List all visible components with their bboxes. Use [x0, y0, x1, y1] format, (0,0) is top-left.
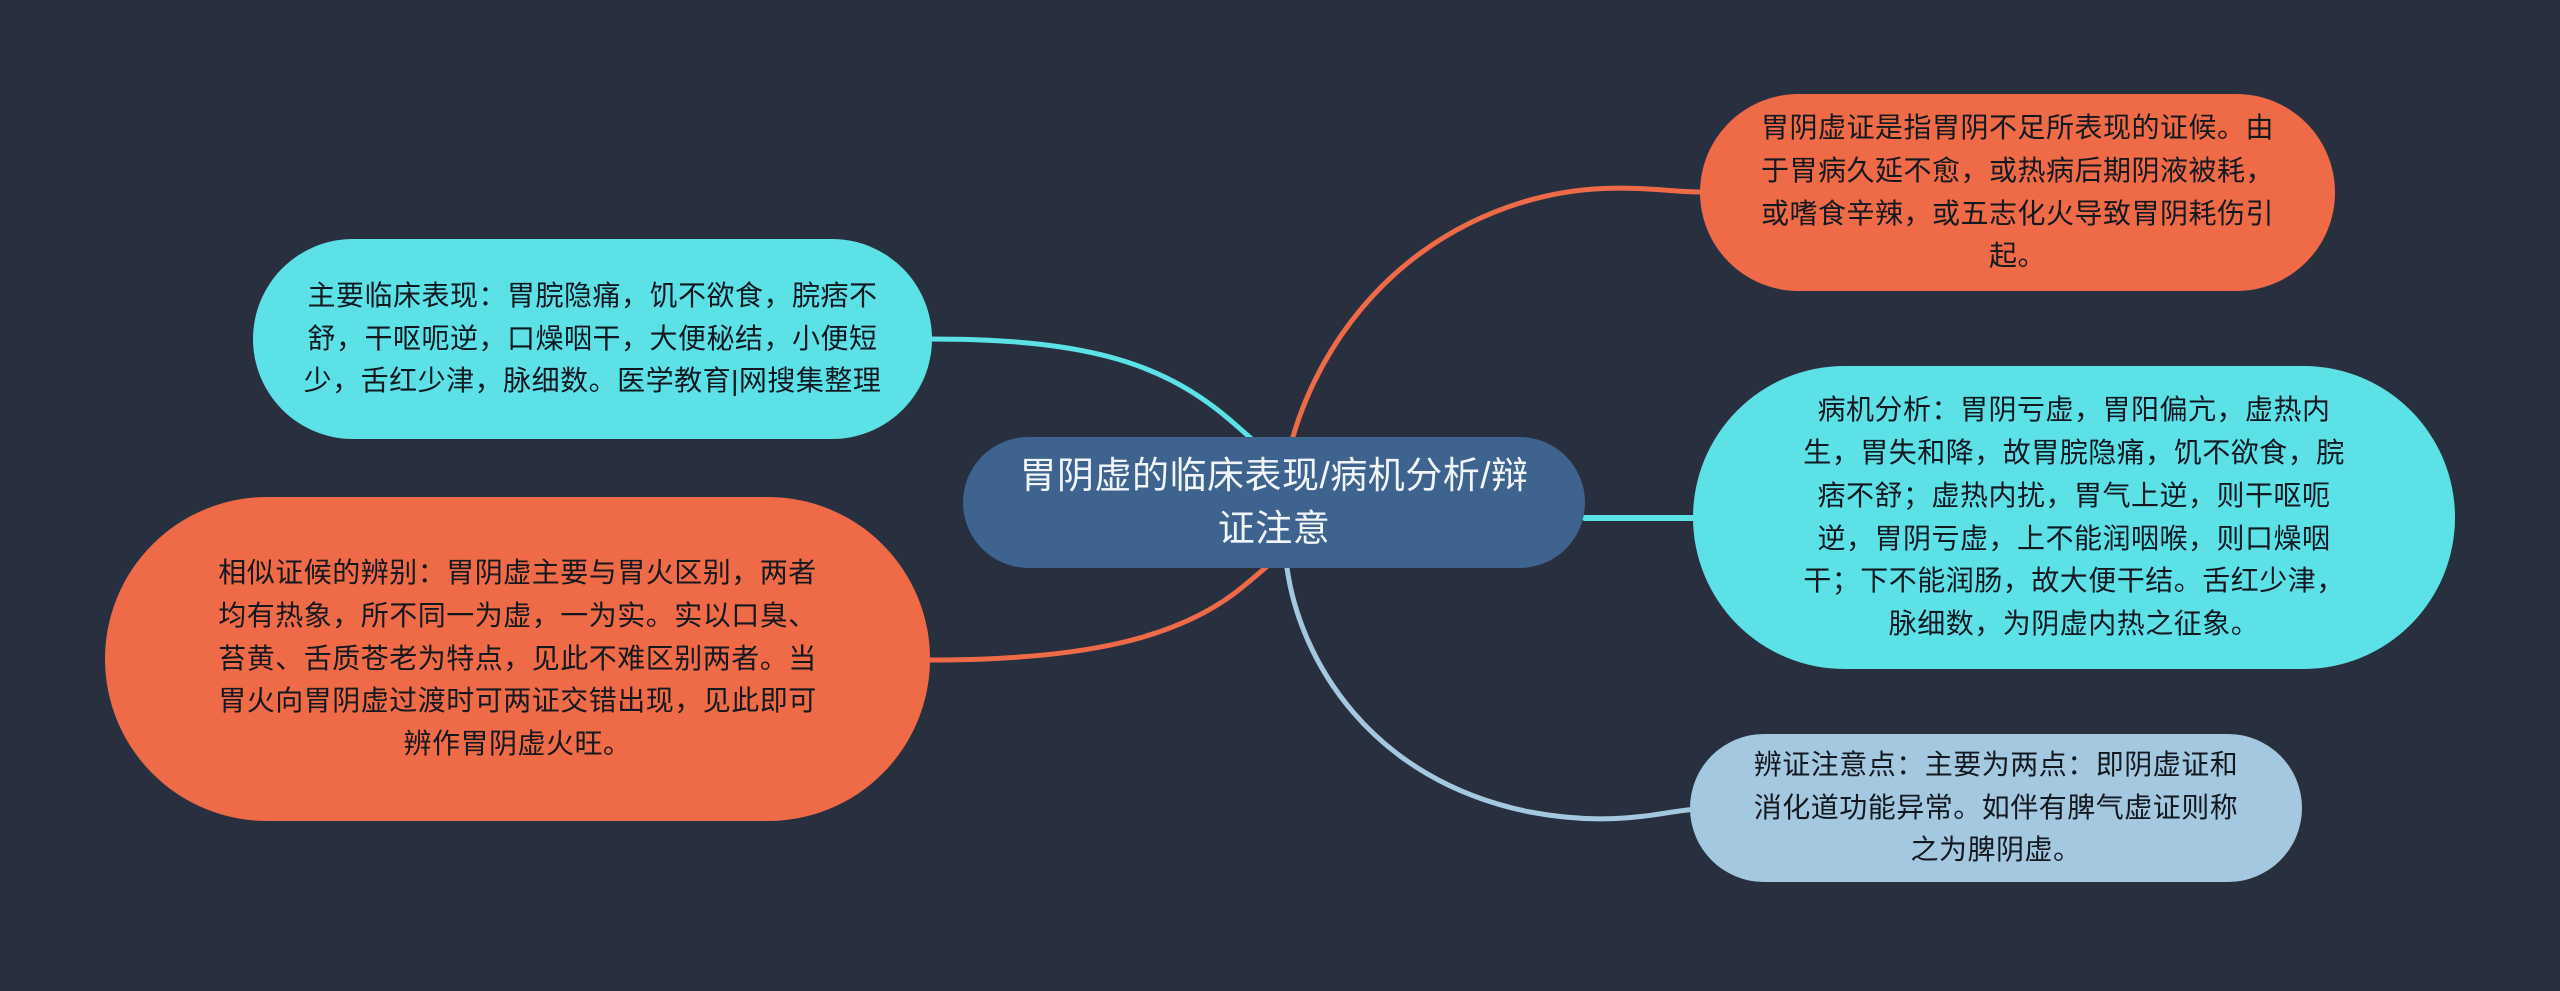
branch-node-differentiation-cautions[interactable]: 辨证注意点：主要为两点：即阴虚证和消化道功能异常。如伴有脾气虚证则称之为脾阴虚。: [1690, 734, 2302, 882]
branch-label-differentiation: 相似证候的辨别：胃阴虚主要与胃火区别，两者均有热象，所不同一为虚，一为实。实以口…: [215, 552, 820, 766]
branch-node-definition[interactable]: 胃阴虚证是指胃阴不足所表现的证候。由于胃病久延不愈，或热病后期阴液被耗，或嗜食辛…: [1700, 94, 2335, 291]
connector-cautions: [1287, 568, 1700, 819]
branch-label-definition: 胃阴虚证是指胃阴不足所表现的证候。由于胃病久延不愈，或热病后期阴液被耗，或嗜食辛…: [1760, 107, 2275, 277]
root-node[interactable]: 胃阴虚的临床表现/病机分析/辩证注意: [963, 437, 1585, 568]
branch-node-clinical-manifestations[interactable]: 主要临床表现：胃脘隐痛，饥不欲食，脘痞不舒，干呕呃逆，口燥咽干，大便秘结，小便短…: [253, 239, 932, 439]
root-node-label: 胃阴虚的临床表现/病机分析/辩证注意: [1009, 450, 1539, 555]
branch-label-pathogenesis: 病机分析：胃阴亏虚，胃阳偏亢，虚热内生，胃失和降，故胃脘隐痛，饥不欲食，脘痞不舒…: [1801, 389, 2347, 646]
mindmap-canvas: 主要临床表现：胃脘隐痛，饥不欲食，脘痞不舒，干呕呃逆，口燥咽干，大便秘结，小便短…: [0, 0, 2560, 991]
connector-definition: [1285, 188, 1700, 472]
branch-label-cautions: 辨证注意点：主要为两点：即阴虚证和消化道功能异常。如伴有脾气虚证则称之为脾阴虚。: [1745, 744, 2247, 872]
branch-label-clinical: 主要临床表现：胃脘隐痛，饥不欲食，脘痞不舒，干呕呃逆，口燥咽干，大便秘结，小便短…: [301, 275, 884, 403]
branch-node-pathogenesis-analysis[interactable]: 病机分析：胃阴亏虚，胃阳偏亢，虚热内生，胃失和降，故胃脘隐痛，饥不欲食，脘痞不舒…: [1693, 366, 2455, 669]
branch-node-pattern-differentiation[interactable]: 相似证候的辨别：胃阴虚主要与胃火区别，两者均有热象，所不同一为虚，一为实。实以口…: [105, 497, 930, 821]
